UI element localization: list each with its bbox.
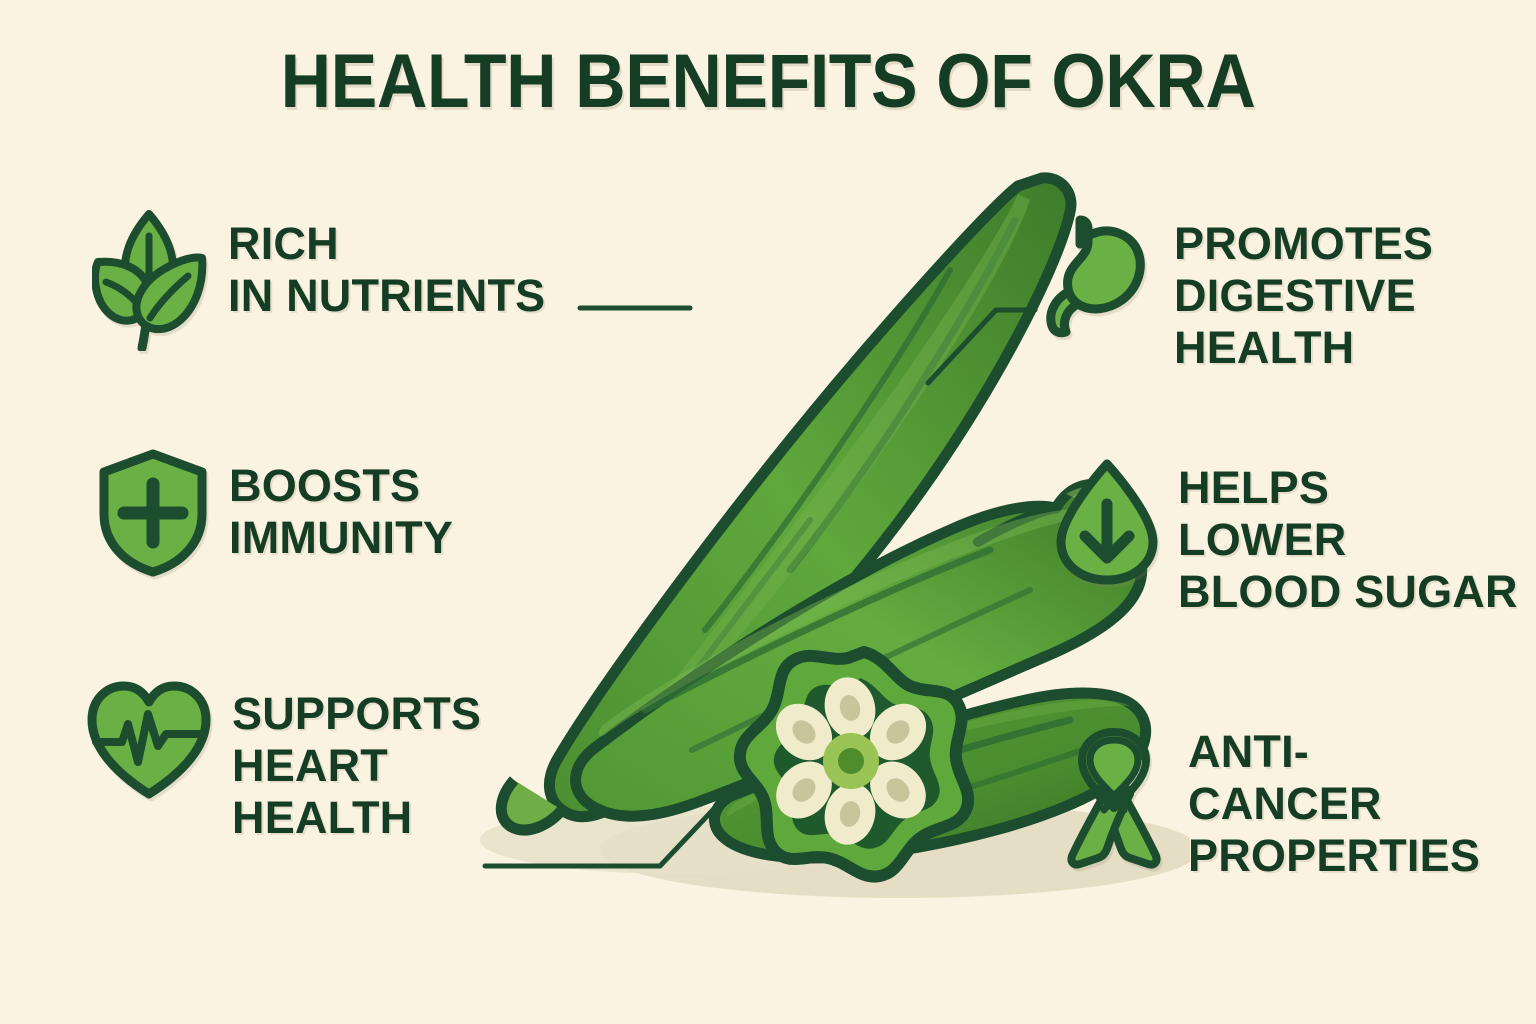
benefit-label: RICH IN NUTRIENTS bbox=[228, 206, 545, 322]
benefit-supports-heart-health[interactable]: SUPPORTS HEART HEALTH bbox=[84, 676, 481, 845]
benefit-anti-cancer-properties[interactable]: ANTI- CANCER PROPERTIES bbox=[1058, 722, 1480, 883]
heart-pulse-icon bbox=[84, 676, 214, 802]
benefit-label: HELPS LOWER BLOOD SUGAR bbox=[1178, 458, 1518, 619]
shield-plus-icon bbox=[96, 448, 211, 578]
benefit-label: PROMOTES DIGESTIVE HEALTH bbox=[1174, 214, 1433, 375]
benefit-promotes-digestive-health[interactable]: PROMOTES DIGESTIVE HEALTH bbox=[1040, 214, 1433, 375]
benefit-boosts-immunity[interactable]: BOOSTS IMMUNITY bbox=[96, 448, 453, 578]
awareness-ribbon-icon bbox=[1058, 722, 1170, 872]
benefit-label: SUPPORTS HEART HEALTH bbox=[232, 676, 481, 845]
stomach-icon bbox=[1040, 214, 1156, 340]
droplet-down-arrow-icon bbox=[1055, 458, 1160, 586]
benefit-helps-lower-blood-sugar[interactable]: HELPS LOWER BLOOD SUGAR bbox=[1055, 458, 1518, 619]
benefit-rich-in-nutrients[interactable]: RICH IN NUTRIENTS bbox=[92, 206, 545, 351]
okra-core-center bbox=[838, 748, 864, 774]
leaf-icon bbox=[92, 206, 210, 351]
benefit-label: ANTI- CANCER PROPERTIES bbox=[1188, 722, 1480, 883]
page-title: HEALTH BENEFITS OF OKRA bbox=[61, 38, 1474, 125]
infographic-poster: HEALTH BENEFITS OF OKRA bbox=[0, 0, 1536, 1024]
benefit-label: BOOSTS IMMUNITY bbox=[229, 448, 453, 564]
